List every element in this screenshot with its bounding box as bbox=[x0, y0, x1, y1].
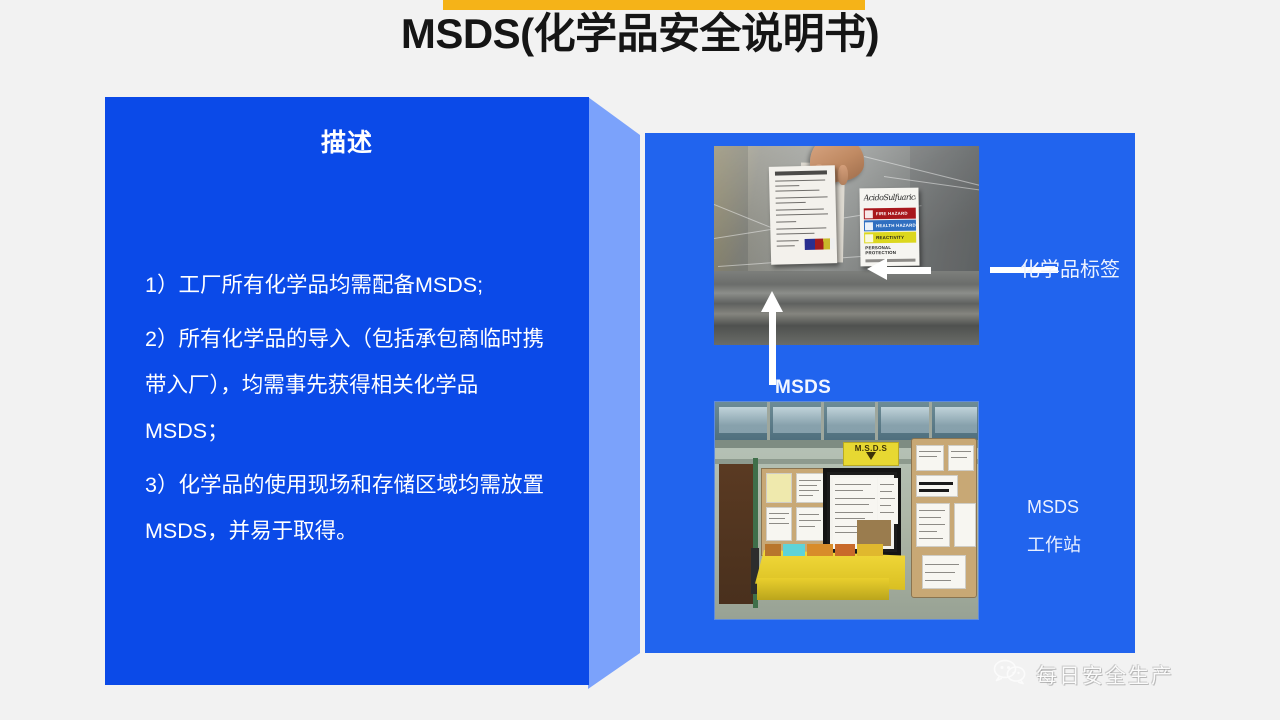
watermark-text: 每日安全生产 bbox=[1036, 660, 1174, 690]
photo-two-shelf-items bbox=[765, 544, 885, 560]
msds-workstation-photo: M.S.D.S bbox=[714, 401, 979, 620]
msds-caption: MSDS bbox=[775, 377, 831, 399]
photo-one-shadow-right bbox=[910, 146, 979, 276]
hazard-row-label: REACTIVITY bbox=[876, 235, 904, 240]
msds-sign-text: M.S.D.S bbox=[844, 443, 898, 454]
document-color-swatch bbox=[805, 238, 835, 250]
description-item-1: 1）工厂所有化学品均需配备MSDS; bbox=[145, 262, 555, 308]
hazard-row-label: FIRE HAZARD bbox=[876, 211, 908, 216]
photo-one-wrapped-pallet bbox=[714, 271, 979, 345]
photo-two-doorway bbox=[719, 464, 753, 604]
description-panel-3d-side-face bbox=[588, 97, 640, 689]
photo-two-msds-chart bbox=[830, 475, 894, 549]
hazard-row-fire: FIRE HAZARD bbox=[864, 208, 916, 220]
photo-one-msds-document bbox=[769, 165, 837, 265]
description-heading: 描述 bbox=[105, 123, 589, 159]
description-panel-front-face: 描述 1）工厂所有化学品均需配备MSDS; 2）所有化学品的导入（包括承包商临时… bbox=[105, 97, 589, 685]
description-panel: 描述 1）工厂所有化学品均需配备MSDS; 2）所有化学品的导入（包括承包商临时… bbox=[105, 97, 640, 689]
workstation-caption-line2: 工作站 bbox=[1027, 526, 1081, 564]
photo-one-chemical-hazard-label: AcidoSulfuarica FIRE HAZARD HEALTH HAZAR… bbox=[859, 188, 919, 267]
photo-two-yellow-shelf-front bbox=[757, 578, 889, 600]
hazard-row-health: HEALTH HAZARD bbox=[864, 220, 916, 232]
callout-arrow-shaft-chemical-label bbox=[885, 267, 931, 274]
photo-two-frame-cork-patch bbox=[857, 520, 891, 546]
chemical-label-caption: 化学品标签 bbox=[1020, 253, 1120, 282]
description-list: 1）工厂所有化学品均需配备MSDS; 2）所有化学品的导入（包括承包商临时携带入… bbox=[145, 262, 555, 562]
hazard-rating-chip bbox=[865, 210, 873, 218]
watermark: 每日安全生产 bbox=[993, 658, 1174, 691]
photo-two-msds-display-frame bbox=[823, 468, 901, 556]
callout-arrow-shaft-msds bbox=[769, 311, 776, 385]
workstation-caption: MSDS 工作站 bbox=[1027, 488, 1081, 564]
photo-one-finger bbox=[838, 165, 848, 185]
msds-document-and-chemical-label-photo: AcidoSulfuarica FIRE HAZARD HEALTH HAZAR… bbox=[714, 146, 979, 345]
page-title: MSDS(化学品安全说明书) bbox=[0, 4, 1280, 64]
hazard-row-label: PERSONAL PROTECTION bbox=[865, 244, 916, 255]
photo-two-corkboard-right bbox=[911, 438, 977, 598]
hazard-rating-chip bbox=[865, 234, 873, 242]
hazard-rating-chip bbox=[865, 222, 873, 230]
hazard-label-product-name: AcidoSulfuarica bbox=[864, 193, 916, 207]
description-item-2: 2）所有化学品的导入（包括承包商临时携带入厂），均需事先获得相关化学品MSDS； bbox=[145, 316, 555, 454]
description-item-3: 3）化学品的使用现场和存储区域均需放置MSDS，并易于取得。 bbox=[145, 462, 555, 554]
photo-two-corkboard-left bbox=[761, 468, 827, 556]
document-header-bar bbox=[775, 170, 827, 175]
wechat-icon bbox=[993, 658, 1027, 691]
callout-arrowhead-msds bbox=[761, 291, 783, 312]
hazard-row-personal-protection: PERSONAL PROTECTION bbox=[864, 244, 916, 256]
hazard-row-label: HEALTH HAZARD bbox=[876, 223, 916, 229]
photo-panel: AcidoSulfuarica FIRE HAZARD HEALTH HAZAR… bbox=[645, 133, 1135, 653]
photo-two-msds-sign: M.S.D.S bbox=[843, 442, 899, 466]
workstation-caption-line1: MSDS bbox=[1027, 488, 1081, 526]
callout-arrowhead-chemical-label bbox=[867, 258, 887, 280]
hazard-row-reactivity: REACTIVITY bbox=[864, 232, 916, 244]
photo-two-clerestory-windows bbox=[715, 402, 978, 440]
